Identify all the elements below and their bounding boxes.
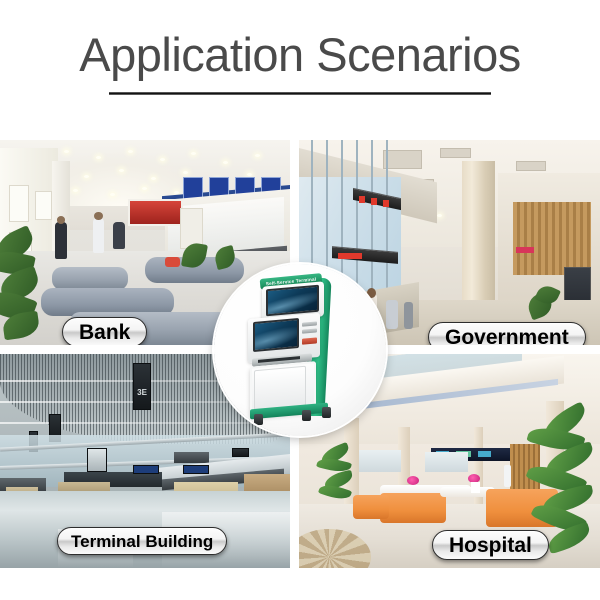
self-service-kiosk: Self-Service Terminal <box>242 276 354 428</box>
kiosk-wheel-rear <box>322 407 331 418</box>
kiosk-upper-screen[interactable] <box>266 285 319 317</box>
application-scenarios-page: Application Scenarios <box>0 0 600 600</box>
label-pill-terminal-building[interactable]: Terminal Building <box>57 527 227 555</box>
label-pill-hospital[interactable]: Hospital <box>432 530 549 560</box>
page-title: Application Scenarios <box>79 30 521 79</box>
page-header: Application Scenarios <box>0 0 600 140</box>
bank-plant <box>0 222 64 345</box>
kiosk-wheel-left <box>254 414 263 425</box>
label-pill-bank[interactable]: Bank <box>62 317 147 345</box>
kiosk-card-reader-slots[interactable] <box>302 321 318 348</box>
kiosk-touch-screen[interactable] <box>253 318 299 352</box>
kiosk-wheel-right <box>302 410 311 421</box>
hospital-plant-left <box>317 444 365 512</box>
gate-sign-label: 3E <box>137 388 147 397</box>
title-underline-divider <box>109 92 491 95</box>
label-pill-government[interactable]: Government <box>428 322 586 345</box>
kiosk-base-door <box>254 366 306 411</box>
center-product-circle[interactable]: Self-Service Terminal <box>214 264 386 436</box>
gate-sign-3e: 3E <box>133 363 150 410</box>
